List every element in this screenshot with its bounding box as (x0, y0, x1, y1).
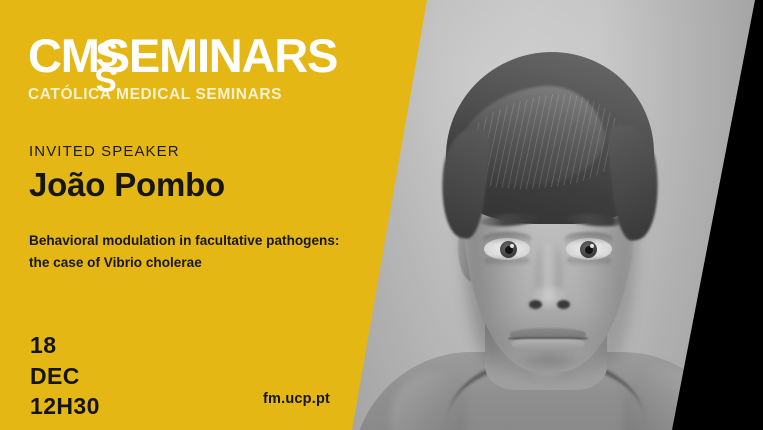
talk-title-line-1: Behavioral modulation in facultative pat… (29, 230, 359, 252)
chin-shadow (508, 356, 588, 374)
cms-logo: CMSSSEMINARS CATÓLICA MEDICAL SEMINARS (28, 32, 337, 104)
event-date-block: 18 DEC 12H30 (30, 330, 100, 422)
undereye-right (567, 258, 611, 267)
eyelid-right (565, 232, 613, 244)
eye-glint-left (510, 244, 514, 248)
eye-glint-right (590, 244, 594, 248)
event-time: 12H30 (30, 391, 100, 422)
invited-speaker-kicker: INVITED SPEAKER (29, 143, 180, 160)
lower-lip (512, 339, 584, 352)
logo-wordmark: CMSSSEMINARS (28, 32, 337, 79)
logo-wordmark-seminars: SEMINARS (99, 29, 337, 82)
logo-monogram-s-lower: S (96, 62, 117, 96)
undereye-left (485, 258, 529, 267)
logo-subtitle: CATÓLICA MEDICAL SEMINARS (28, 86, 337, 104)
speaker-name: João Pombo (29, 166, 225, 204)
logo-wordmark-cm: CM (28, 29, 99, 82)
talk-title-line-2: the case of Vibrio cholerae (29, 252, 359, 274)
website-url: fm.ucp.pt (263, 391, 330, 407)
event-month: DEC (30, 361, 100, 392)
talk-title: Behavioral modulation in facultative pat… (29, 230, 359, 274)
seminar-announcement-poster: CMSSSEMINARS CATÓLICA MEDICAL SEMINARS I… (0, 0, 763, 430)
eyelid-left (483, 232, 531, 244)
event-day: 18 (30, 330, 100, 361)
